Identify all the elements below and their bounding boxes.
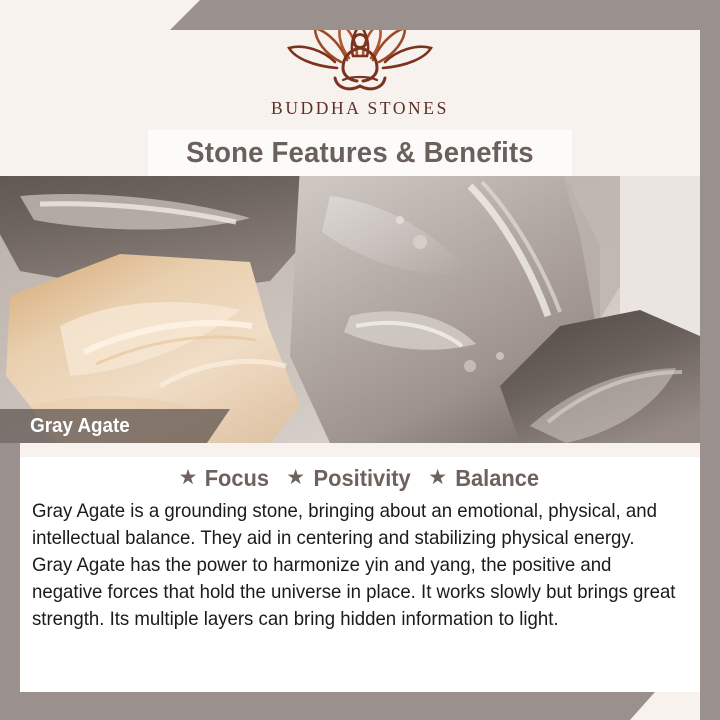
star-icon: ★	[428, 467, 447, 488]
frame-left-bar	[0, 443, 20, 720]
keyword-item-balance: ★ Balance	[428, 465, 541, 492]
brand-logo: BUDDHA STONES	[0, 18, 720, 119]
title-banner: Stone Features & Benefits	[148, 130, 572, 176]
frame-bottom-bar	[0, 692, 720, 720]
keyword-label: Positivity	[314, 465, 411, 492]
stone-name-label: Gray Agate	[0, 409, 230, 443]
stone-name-text: Gray Agate	[0, 415, 130, 438]
star-icon: ★	[286, 467, 305, 488]
keyword-label: Focus	[205, 465, 269, 492]
content-panel: ★ Focus ★ Positivity ★ Balance Gray Agat…	[20, 457, 700, 692]
stone-info-card: BUDDHA STONES Stone Features & Benefits	[0, 0, 720, 720]
stone-photo: Gray Agate	[0, 176, 720, 443]
keyword-item-positivity: ★ Positivity	[286, 465, 413, 492]
keyword-label: Balance	[455, 465, 539, 492]
frame-right-bar	[700, 0, 720, 720]
brand-name: BUDDHA STONES	[0, 98, 720, 119]
page-title: Stone Features & Benefits	[186, 137, 534, 170]
stone-photo-illustration	[0, 176, 720, 443]
stone-description: Gray Agate is a grounding stone, bringin…	[32, 498, 680, 633]
keyword-list: ★ Focus ★ Positivity ★ Balance	[20, 457, 700, 492]
keyword-item-focus: ★ Focus	[179, 465, 272, 492]
panel-gap-strip	[20, 443, 700, 457]
star-icon: ★	[179, 467, 198, 488]
